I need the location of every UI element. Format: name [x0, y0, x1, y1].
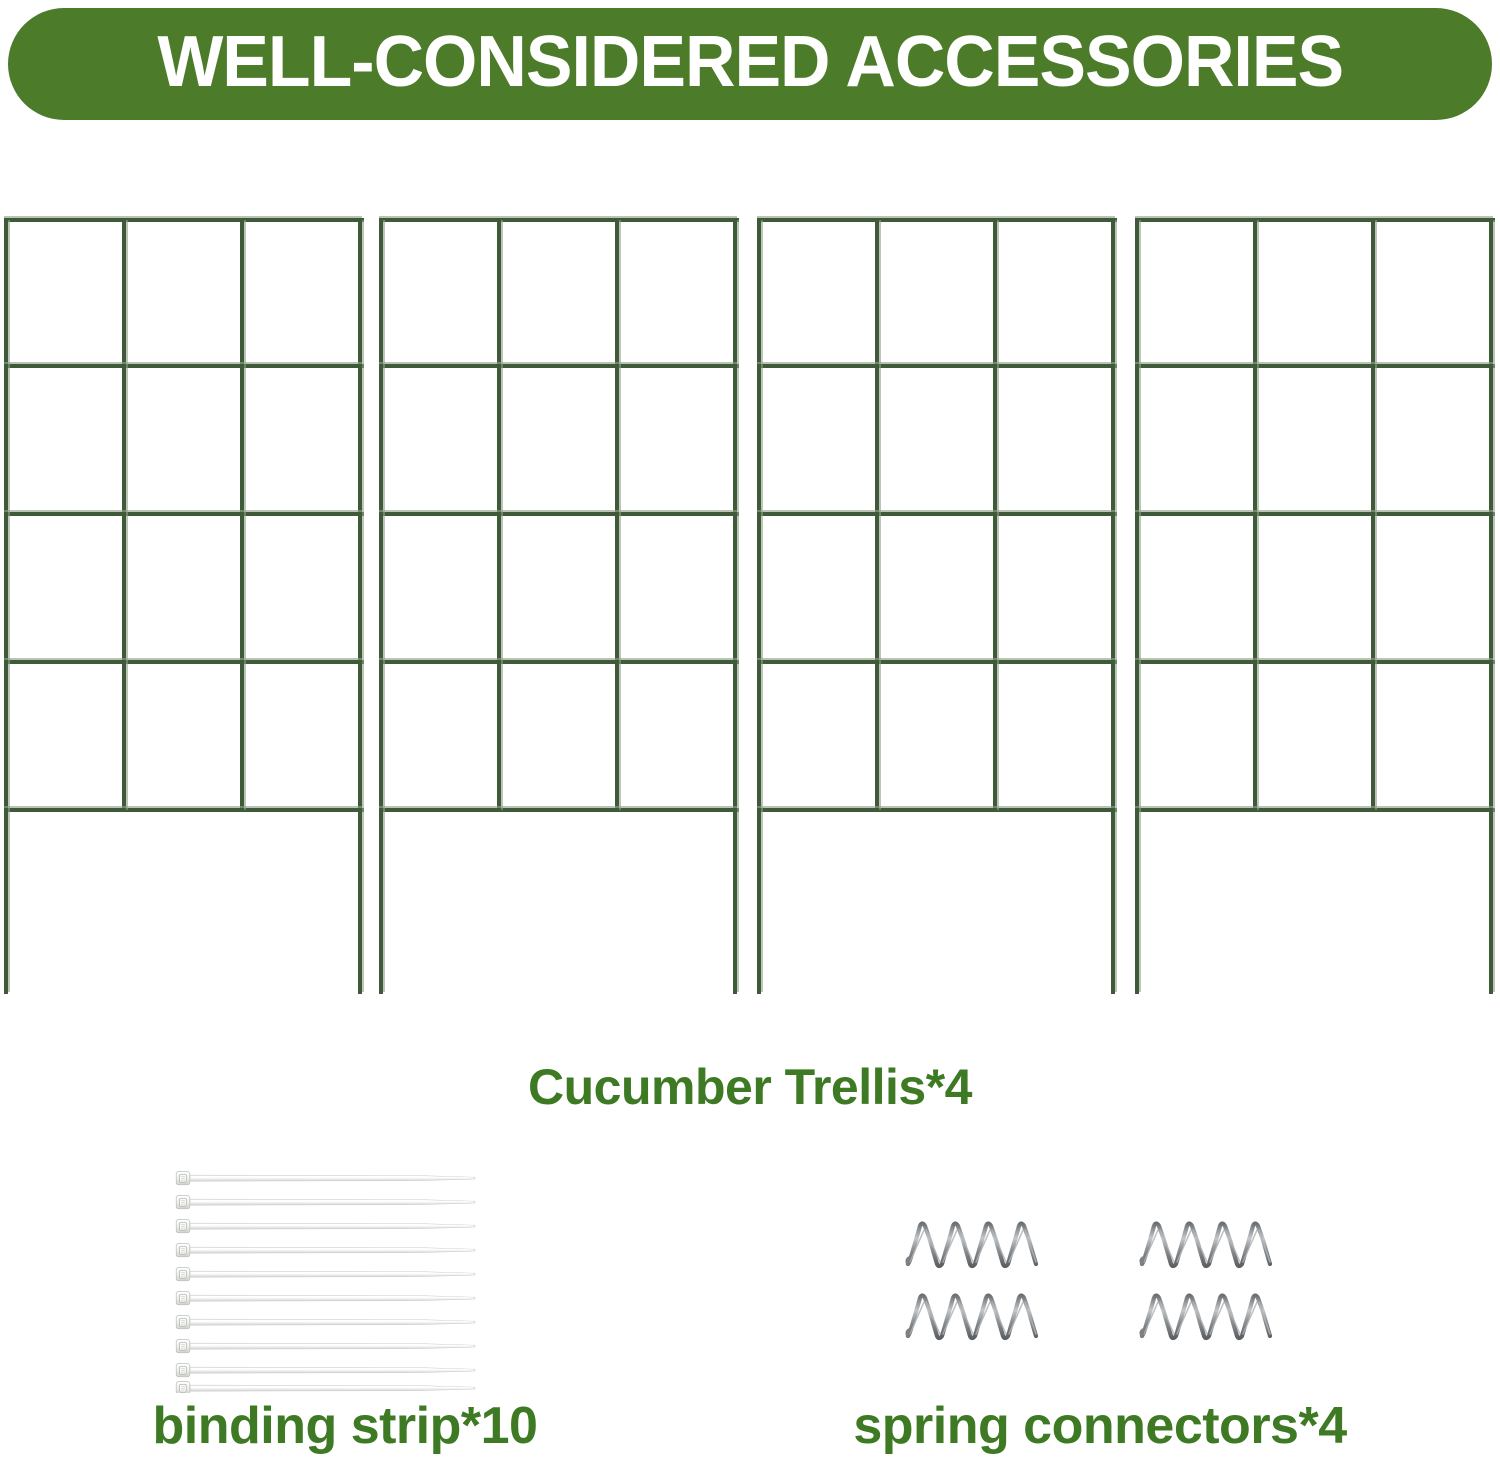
header-banner: WELL-CONSIDERED ACCESSORIES — [8, 8, 1492, 120]
trellis-product-image — [0, 200, 1500, 1010]
binding-strip-caption-wrap: binding strip*10 — [0, 1400, 690, 1452]
trellis-panel-2 — [379, 200, 739, 1000]
zip-tie-icon-group — [175, 1168, 495, 1393]
trellis-panel-graphic — [757, 200, 1117, 1000]
list-item — [176, 1172, 475, 1185]
trellis-caption: Cucumber Trellis*4 — [528, 1059, 972, 1115]
trellis-panel-graphic — [4, 200, 364, 1000]
coil-spring-icon-group — [900, 1212, 1280, 1362]
list-item — [907, 1224, 1036, 1267]
list-item — [1141, 1224, 1270, 1267]
trellis-panel-graphic — [1135, 200, 1495, 1000]
trellis-panel-4 — [1135, 200, 1495, 1000]
list-item — [176, 1364, 475, 1377]
list-item — [176, 1196, 475, 1209]
list-item — [176, 1316, 475, 1329]
trellis-caption-wrap: Cucumber Trellis*4 — [0, 1062, 1500, 1112]
trellis-panel-1 — [4, 200, 364, 1000]
list-item — [176, 1340, 475, 1353]
trellis-panel-3 — [757, 200, 1117, 1000]
list-item — [176, 1382, 475, 1393]
list-item — [176, 1292, 475, 1305]
spring-connectors-caption-wrap: spring connectors*4 — [700, 1400, 1500, 1452]
binding-strip-caption: binding strip*10 — [153, 1397, 538, 1455]
page-title: WELL-CONSIDERED ACCESSORIES — [157, 26, 1343, 102]
list-item — [176, 1244, 475, 1257]
spring-connector-product-image — [900, 1212, 1280, 1362]
spring-connectors-caption: spring connectors*4 — [853, 1397, 1346, 1455]
trellis-panel-graphic — [379, 200, 739, 1000]
list-item — [1141, 1296, 1270, 1339]
list-item — [176, 1220, 475, 1233]
list-item — [176, 1268, 475, 1281]
list-item — [907, 1296, 1036, 1339]
binding-strip-product-image — [175, 1168, 495, 1393]
